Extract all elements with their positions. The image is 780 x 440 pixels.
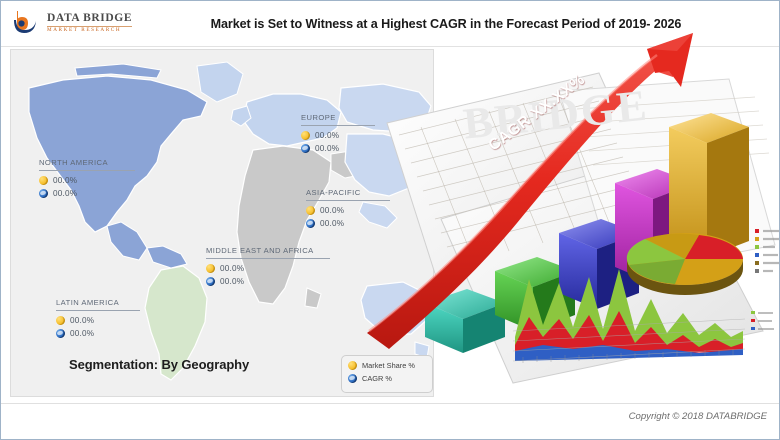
region-callout-middle-east-africa: MIDDLE EAST AND AFRICA 00.0% 00.0% [206, 246, 330, 290]
blue-globe-icon [306, 219, 315, 228]
blue-globe-icon [348, 374, 357, 383]
region-underline [56, 310, 140, 311]
region-cagr-value: 00.0% [220, 277, 244, 286]
logo-tagline: MARKET RESEARCH [47, 26, 132, 33]
growth-artwork: BRIDGE [363, 31, 780, 401]
region-market-share-value: 00.0% [70, 316, 94, 325]
region-callout-north-america: NORTH AMERICA 00.0% 00.0% [39, 158, 135, 202]
region-underline [39, 170, 135, 171]
region-cagr-value: 00.0% [320, 219, 344, 228]
footer-bar: Copyright © 2018 DATABRIDGE [1, 403, 780, 439]
brand-logo[interactable]: DATA BRIDGE MARKET RESEARCH [11, 8, 132, 38]
region-market-share-row: 00.0% [39, 176, 135, 185]
gold-coin-icon [348, 361, 357, 370]
gold-coin-icon [56, 316, 65, 325]
region-cagr-row: 00.0% [206, 277, 330, 286]
blue-globe-icon [56, 329, 65, 338]
region-market-share-row: 00.0% [206, 264, 330, 273]
region-cagr-value: 00.0% [53, 189, 77, 198]
region-market-share-value: 00.0% [220, 264, 244, 273]
region-market-share-value: 00.0% [320, 206, 344, 215]
region-callout-latin-america: LATIN AMERICA 00.0% 00.0% [56, 298, 140, 342]
segmentation-title: Segmentation: By Geography [69, 357, 249, 372]
region-market-share-row: 00.0% [56, 316, 140, 325]
region-label: NORTH AMERICA [39, 158, 135, 167]
pie-chart [627, 233, 743, 295]
blue-globe-icon [39, 189, 48, 198]
region-label: LATIN AMERICA [56, 298, 140, 307]
gold-coin-icon [306, 206, 315, 215]
gold-coin-icon [39, 176, 48, 185]
region-cagr-value: 00.0% [70, 329, 94, 338]
region-cagr-row: 00.0% [56, 329, 140, 338]
region-underline [206, 258, 330, 259]
gold-coin-icon [206, 264, 215, 273]
region-market-share-value: 00.0% [53, 176, 77, 185]
copyright-text: Copyright © 2018 DATABRIDGE [629, 411, 767, 422]
blue-globe-icon [206, 277, 215, 286]
market-report-infographic: DATA BRIDGE MARKET RESEARCH Market is Se… [0, 0, 780, 440]
logo-name: DATA BRIDGE [47, 13, 132, 25]
data-bridge-logo-icon [11, 8, 41, 38]
region-cagr-row: 00.0% [39, 189, 135, 198]
region-label: MIDDLE EAST AND AFRICA [206, 246, 330, 255]
region-market-share-value: 00.0% [315, 131, 339, 140]
blue-globe-icon [301, 144, 310, 153]
gold-coin-icon [301, 131, 310, 140]
region-cagr-value: 00.0% [315, 144, 339, 153]
